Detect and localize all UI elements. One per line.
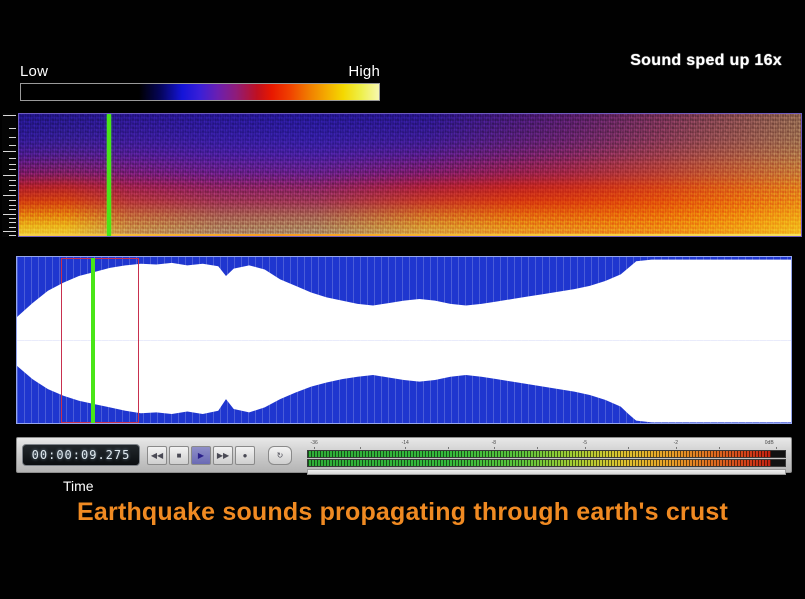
waveform-panel[interactable] [16, 256, 792, 424]
play-button[interactable]: ▶ [191, 446, 211, 465]
record-button[interactable]: ● [235, 446, 255, 465]
spectrogram-noise-texture [19, 114, 801, 236]
frequency-tick [9, 180, 16, 181]
frequency-tick [9, 200, 16, 201]
frequency-tick [9, 218, 16, 219]
loop-button[interactable]: ↻ [268, 446, 292, 465]
playback-speed-note: Sound sped up 16x [630, 52, 782, 70]
frequency-tick [3, 115, 16, 116]
time-display[interactable]: 00:00:09.275 [22, 444, 140, 466]
frequency-tick [3, 195, 16, 196]
intensity-legend: Low High [20, 60, 380, 101]
frequency-tick [9, 164, 16, 165]
legend-labels: Low High [20, 60, 380, 80]
frequency-tick [9, 205, 16, 206]
level-meter-left-channel [307, 450, 786, 458]
frequency-tick [9, 145, 16, 146]
spectrogram-panel[interactable] [2, 113, 802, 237]
frequency-tick [9, 190, 16, 191]
fast-forward-button[interactable]: ▶▶ [213, 446, 233, 465]
frequency-tick [9, 185, 16, 186]
stop-button[interactable]: ■ [169, 446, 189, 465]
level-meter-left-fill [308, 451, 771, 457]
meter-tick-label-6: 0dB [765, 440, 774, 446]
frequency-tick [9, 209, 16, 210]
frequency-tick [9, 128, 16, 129]
spectrogram-canvas[interactable] [18, 113, 802, 237]
spectrogram-playhead[interactable] [107, 114, 111, 236]
rewind-button[interactable]: ◀◀ [147, 446, 167, 465]
frequency-tick [9, 158, 16, 159]
page-caption: Earthquake sounds propagating through ea… [0, 498, 805, 527]
frequency-tick [3, 175, 16, 176]
legend-low-label: Low [20, 63, 48, 80]
meter-tick-label-2: -14 [402, 440, 409, 446]
frequency-tick [9, 222, 16, 223]
time-axis-label: Time [63, 478, 94, 494]
level-meter: -36 -14 -8 -5 -2 0dB [307, 440, 786, 470]
frequency-tick [3, 214, 16, 215]
frequency-tick [9, 137, 16, 138]
frequency-tick [9, 169, 16, 170]
meter-tick-label-3: -8 [492, 440, 496, 446]
intensity-colorbar-icon [20, 83, 380, 101]
transport-button-group[interactable]: ◀◀ ■ ▶ ▶▶ ● [147, 446, 255, 465]
frequency-tick [9, 227, 16, 228]
level-meter-scale: -36 -14 -8 -5 -2 0dB [307, 440, 786, 449]
legend-high-label: High [348, 63, 380, 80]
waveform-playhead[interactable] [91, 258, 95, 423]
level-meter-right-fill [308, 460, 771, 466]
horizontal-scrollbar[interactable] [307, 469, 786, 475]
transport-bar[interactable]: 00:00:09.275 ◀◀ ■ ▶ ▶▶ ● ↻ -36 -14 -8 -5… [16, 437, 792, 473]
frequency-axis [2, 113, 16, 237]
level-meter-right-channel [307, 459, 786, 467]
meter-tick-label-5: -2 [674, 440, 678, 446]
frequency-tick [3, 231, 16, 232]
frequency-tick [9, 235, 16, 236]
meter-tick-label-1: -36 [311, 440, 318, 446]
spectrogram-low-band [19, 234, 801, 236]
waveform-selection-region[interactable] [61, 258, 139, 423]
meter-tick-label-4: -5 [583, 440, 587, 446]
frequency-tick [3, 151, 16, 152]
